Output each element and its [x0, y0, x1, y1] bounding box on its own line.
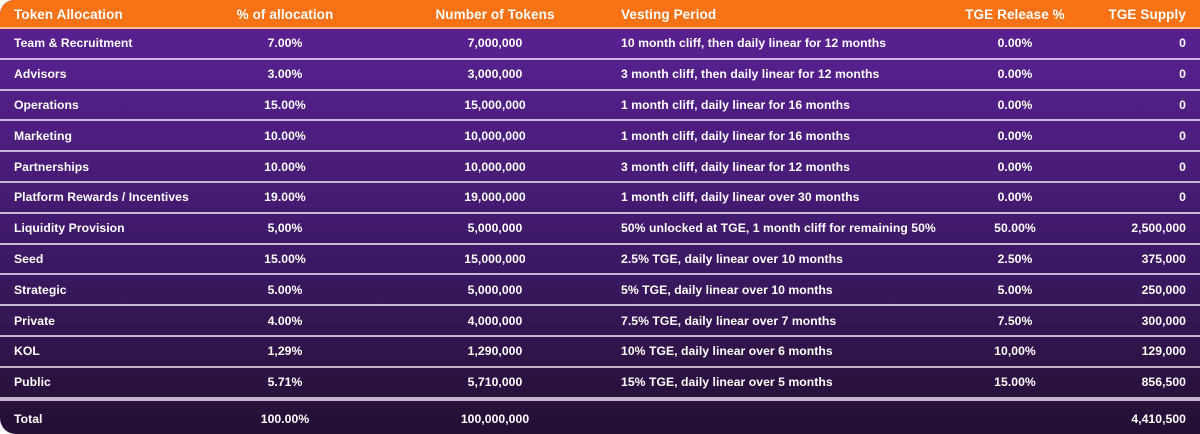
cell-vesting-period: 7.5% TGE, daily linear over 7 months [610, 314, 940, 328]
table-row: Operations15.00%15,000,0001 month cliff,… [0, 91, 1200, 122]
cell-tge-supply: 0 [1090, 36, 1200, 50]
cell-percent-allocation: 4.00% [190, 314, 380, 328]
cell-vesting-period: 10% TGE, daily linear over 6 months [610, 344, 940, 358]
table-row: Partnerships10.00%10,000,0003 month clif… [0, 152, 1200, 183]
column-header-vesting-period: Vesting Period [610, 7, 940, 22]
cell-tge-release: 0.00% [940, 67, 1090, 81]
cell-number-of-tokens: 4,000,000 [380, 314, 610, 328]
cell-tge-supply: 375,000 [1090, 252, 1200, 266]
cell-token-allocation: Team & Recruitment [0, 36, 190, 50]
cell-percent-allocation: 7.00% [190, 36, 380, 50]
cell-vesting-period: 50% unlocked at TGE, 1 month cliff for r… [610, 221, 940, 235]
cell-tge-release: 15.00% [940, 375, 1090, 389]
cell-tge-supply: 0 [1090, 98, 1200, 112]
cell-token-allocation: Liquidity Provision [0, 221, 190, 235]
cell-vesting-period: 1 month cliff, daily linear for 16 month… [610, 98, 940, 112]
cell-tge-supply: 129,000 [1090, 344, 1200, 358]
cell-tge-release: 5.00% [940, 283, 1090, 297]
table-body: Team & Recruitment7.00%7,000,00010 month… [0, 29, 1200, 434]
table-row: Advisors3.00%3,000,0003 month cliff, the… [0, 60, 1200, 91]
table-row: Marketing10.00%10,000,0001 month cliff, … [0, 121, 1200, 152]
cell-tge-release: 50.00% [940, 221, 1090, 235]
table-row: Private4.00%4,000,0007.5% TGE, daily lin… [0, 306, 1200, 337]
column-header-token-allocation: Token Allocation [0, 7, 190, 22]
cell-percent-allocation: 3.00% [190, 67, 380, 81]
cell-token-allocation: Strategic [0, 283, 190, 297]
cell-tge-release: 0.00% [940, 190, 1090, 204]
cell-vesting-period: 2.5% TGE, daily linear over 10 months [610, 252, 940, 266]
cell-percent-allocation: 10.00% [190, 160, 380, 174]
cell-token-allocation: Marketing [0, 129, 190, 143]
cell-vesting-period: 5% TGE, daily linear over 10 months [610, 283, 940, 297]
cell-number-of-tokens: 10,000,000 [380, 160, 610, 174]
cell-token-allocation: Partnerships [0, 160, 190, 174]
table-row: Team & Recruitment7.00%7,000,00010 month… [0, 29, 1200, 60]
cell-number-of-tokens: 100,000,000 [380, 412, 610, 426]
cell-number-of-tokens: 10,000,000 [380, 129, 610, 143]
table-row: Public5.71%5,710,00015% TGE, daily linea… [0, 368, 1200, 399]
cell-number-of-tokens: 5,710,000 [380, 375, 610, 389]
cell-token-allocation: Advisors [0, 67, 190, 81]
cell-tge-release: 0.00% [940, 129, 1090, 143]
cell-number-of-tokens: 15,000,000 [380, 252, 610, 266]
cell-percent-allocation: 15.00% [190, 252, 380, 266]
column-header-number-of-tokens: Number of Tokens [380, 7, 610, 22]
cell-percent-allocation: 19.00% [190, 190, 380, 204]
cell-tge-supply: 300,000 [1090, 314, 1200, 328]
cell-tge-release: 2.50% [940, 252, 1090, 266]
table-row: Seed15.00%15,000,0002.5% TGE, daily line… [0, 245, 1200, 276]
cell-number-of-tokens: 5,000,000 [380, 283, 610, 297]
cell-vesting-period: 1 month cliff, daily linear over 30 mont… [610, 190, 940, 204]
table-row: Liquidity Provision5,00%5,000,00050% unl… [0, 214, 1200, 245]
column-header-percent-allocation: % of allocation [190, 7, 380, 22]
cell-token-allocation: Platform Rewards / Incentives [0, 190, 190, 204]
cell-tge-release: 7.50% [940, 314, 1090, 328]
cell-number-of-tokens: 15,000,000 [380, 98, 610, 112]
cell-percent-allocation: 5,00% [190, 221, 380, 235]
cell-tge-supply: 2,500,000 [1090, 221, 1200, 235]
cell-token-allocation: Operations [0, 98, 190, 112]
cell-tge-supply: 0 [1090, 129, 1200, 143]
cell-tge-supply: 4,410,500 [1090, 412, 1200, 426]
cell-token-allocation: Total [0, 412, 190, 426]
cell-number-of-tokens: 19,000,000 [380, 190, 610, 204]
table-row: Platform Rewards / Incentives19.00%19,00… [0, 183, 1200, 214]
cell-tge-release: 10,00% [940, 344, 1090, 358]
table-row: Strategic5.00%5,000,0005% TGE, daily lin… [0, 275, 1200, 306]
cell-token-allocation: Public [0, 375, 190, 389]
cell-token-allocation: Seed [0, 252, 190, 266]
cell-percent-allocation: 5.71% [190, 375, 380, 389]
cell-token-allocation: Private [0, 314, 190, 328]
cell-percent-allocation: 1,29% [190, 344, 380, 358]
cell-vesting-period: 1 month cliff, daily linear for 16 month… [610, 129, 940, 143]
cell-percent-allocation: 100.00% [190, 412, 380, 426]
cell-tge-supply: 250,000 [1090, 283, 1200, 297]
cell-number-of-tokens: 5,000,000 [380, 221, 610, 235]
cell-percent-allocation: 10.00% [190, 129, 380, 143]
cell-number-of-tokens: 7,000,000 [380, 36, 610, 50]
token-allocation-table: Token Allocation % of allocation Number … [0, 0, 1200, 434]
cell-vesting-period: 10 month cliff, then daily linear for 12… [610, 36, 940, 50]
cell-vesting-period: 3 month cliff, then daily linear for 12 … [610, 67, 940, 81]
cell-number-of-tokens: 3,000,000 [380, 67, 610, 81]
cell-token-allocation: KOL [0, 344, 190, 358]
cell-tge-release: 0.00% [940, 98, 1090, 112]
table-row: KOL1,29%1,290,00010% TGE, daily linear o… [0, 337, 1200, 368]
column-header-tge-supply: TGE Supply [1090, 7, 1200, 22]
table-header-row: Token Allocation % of allocation Number … [0, 0, 1200, 29]
cell-percent-allocation: 15.00% [190, 98, 380, 112]
column-header-tge-release: TGE Release % [940, 7, 1090, 22]
cell-percent-allocation: 5.00% [190, 283, 380, 297]
cell-vesting-period: 15% TGE, daily linear over 5 months [610, 375, 940, 389]
table-total-row: Total100.00%100,000,0004,410,500 [0, 399, 1200, 434]
cell-number-of-tokens: 1,290,000 [380, 344, 610, 358]
cell-tge-supply: 856,500 [1090, 375, 1200, 389]
cell-tge-release: 0.00% [940, 160, 1090, 174]
cell-vesting-period: 3 month cliff, daily linear for 12 month… [610, 160, 940, 174]
cell-tge-supply: 0 [1090, 67, 1200, 81]
cell-tge-supply: 0 [1090, 190, 1200, 204]
cell-tge-release: 0.00% [940, 36, 1090, 50]
cell-tge-supply: 0 [1090, 160, 1200, 174]
